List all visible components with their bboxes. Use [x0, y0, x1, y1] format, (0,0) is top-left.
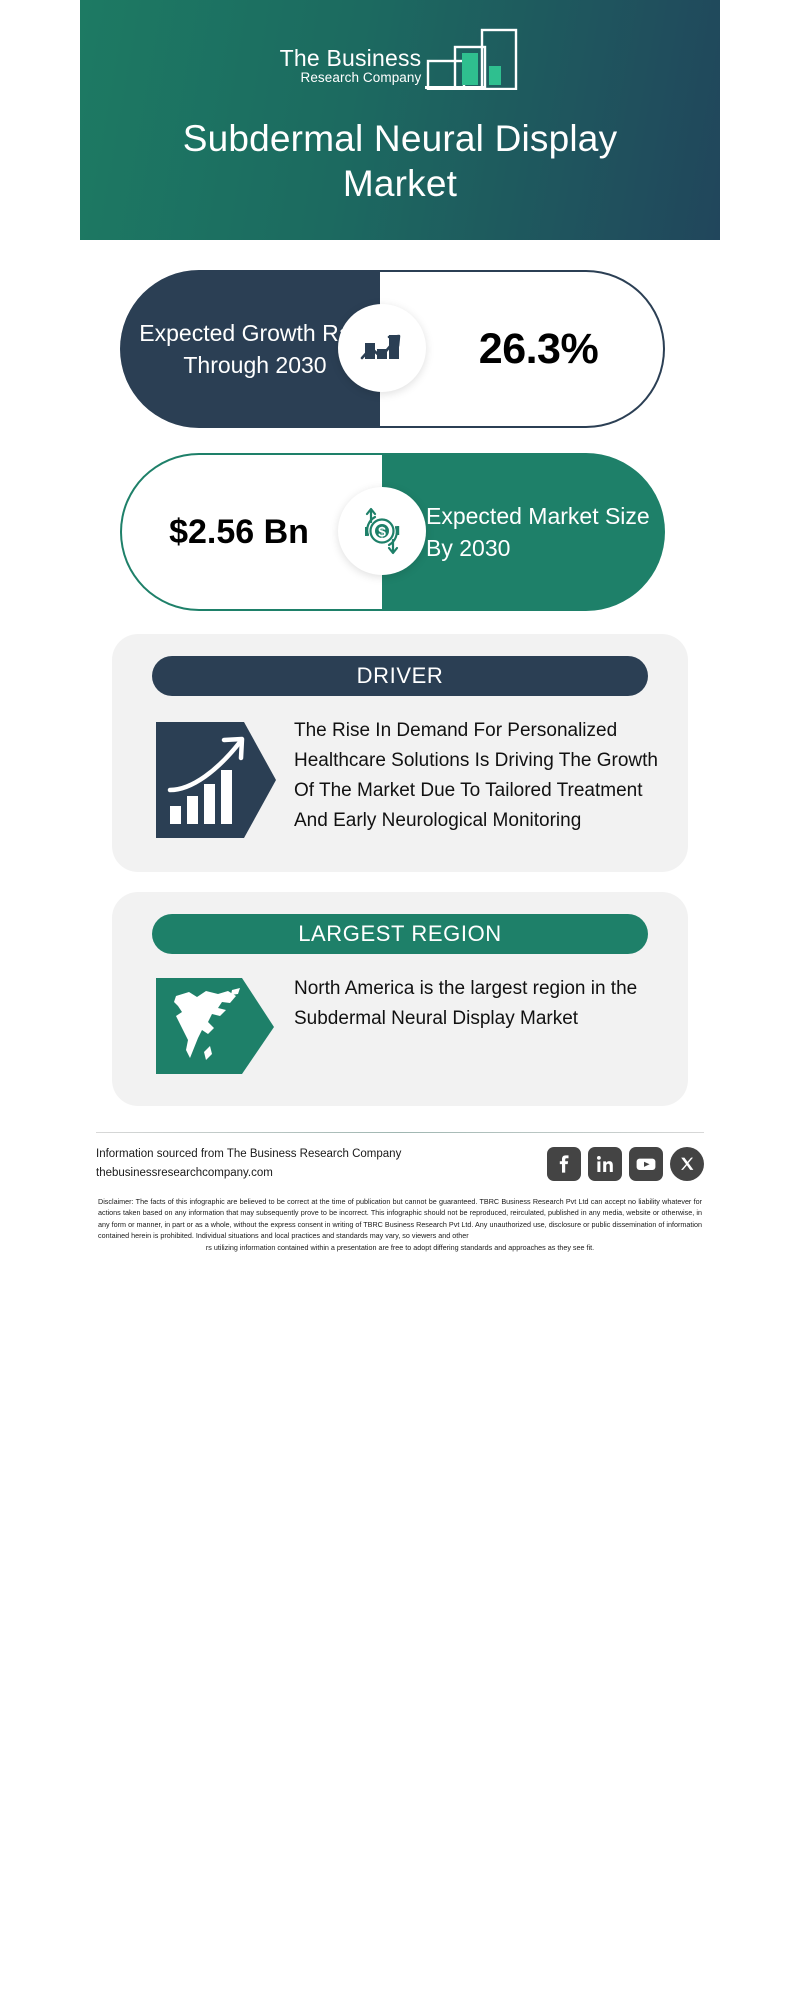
- footer: Information sourced from The Business Re…: [80, 1106, 720, 1268]
- stat-card-market-size: $2.56 Bn Expected Market Size By 2030 $: [80, 443, 720, 618]
- bar-chart-logo-icon: [425, 20, 520, 90]
- footer-divider: [96, 1132, 704, 1133]
- youtube-icon[interactable]: [629, 1147, 663, 1181]
- footer-website-link[interactable]: thebusinessresearchcompany.com: [96, 1164, 401, 1183]
- driver-heading: DRIVER: [152, 656, 648, 696]
- svg-text:$: $: [378, 523, 386, 539]
- brand-logo-line1: The Business: [280, 46, 422, 71]
- dollar-cycle-icon: $: [338, 487, 426, 575]
- footer-source-line1: Information sourced from The Business Re…: [96, 1145, 401, 1164]
- infographic-page: The Business Research Company Subdermal …: [80, 0, 720, 1268]
- largest-region-panel: LARGEST REGION North America is the larg…: [112, 892, 688, 1106]
- hero-header: The Business Research Company Subdermal …: [80, 0, 720, 240]
- north-america-map-icon: [156, 972, 276, 1080]
- linkedin-icon[interactable]: [588, 1147, 622, 1181]
- driver-panel: DRIVER The Rise In Demand For Personaliz…: [112, 634, 688, 872]
- largest-region-heading: LARGEST REGION: [152, 914, 648, 954]
- page-title: Subdermal Neural Display Market: [80, 90, 720, 214]
- stat-value: 26.3%: [445, 325, 598, 374]
- stat-cards: Expected Growth Rate Through 2030 26.3% …: [80, 240, 720, 618]
- x-twitter-icon[interactable]: [670, 1147, 704, 1181]
- brand-logo-text: The Business Research Company: [280, 46, 422, 90]
- growth-bar-chart-arrow-icon: [156, 714, 276, 846]
- disclaimer-main: Disclaimer: The facts of this infographi…: [98, 1197, 702, 1241]
- largest-region-body-text: North America is the largest region in t…: [294, 972, 662, 1034]
- largest-region-content: North America is the largest region in t…: [112, 954, 688, 1080]
- disclaimer-last-line: rs utilizing information contained withi…: [98, 1242, 702, 1254]
- stat-value: $2.56 Bn: [169, 509, 335, 555]
- brand-logo-line2: Research Company: [280, 70, 422, 86]
- driver-body-text: The Rise In Demand For Personalized Heal…: [294, 714, 662, 836]
- social-links: [547, 1147, 704, 1181]
- brand-logo: The Business Research Company: [80, 18, 720, 90]
- facebook-icon[interactable]: [547, 1147, 581, 1181]
- bar-chart-growth-icon: [338, 304, 426, 392]
- stat-card-growth-rate: Expected Growth Rate Through 2030 26.3%: [80, 260, 720, 435]
- driver-content: The Rise In Demand For Personalized Heal…: [112, 696, 688, 846]
- footer-source: Information sourced from The Business Re…: [96, 1145, 401, 1182]
- footer-disclaimer: Disclaimer: The facts of this infographi…: [96, 1183, 704, 1268]
- footer-top-row: Information sourced from The Business Re…: [96, 1145, 704, 1182]
